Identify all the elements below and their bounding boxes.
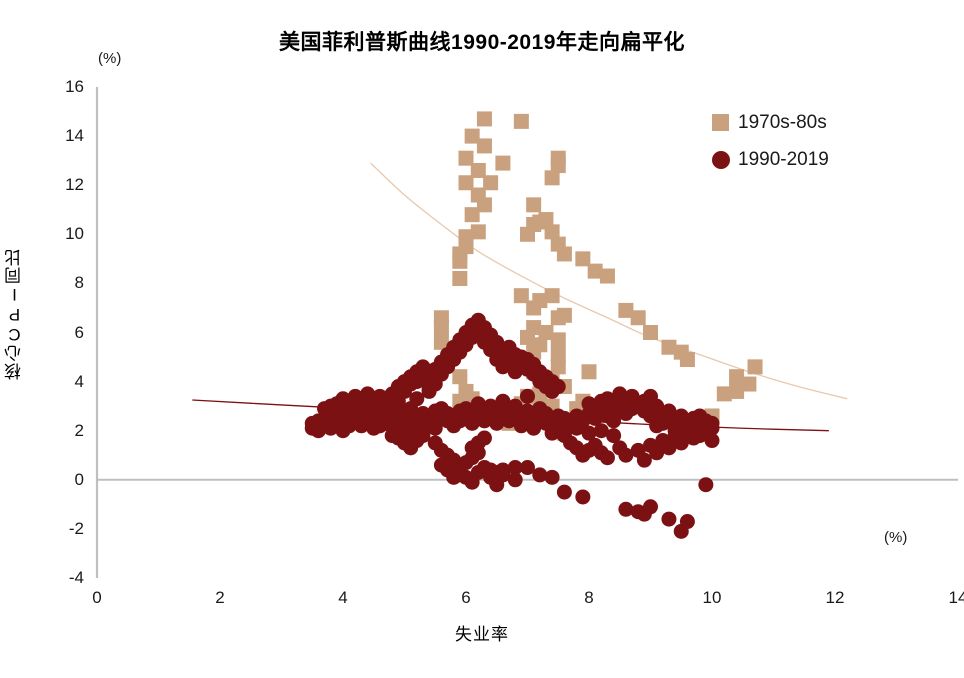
scatter-point-circle bbox=[606, 428, 621, 443]
scatter-point-square bbox=[643, 325, 658, 340]
scatter-point-square bbox=[477, 111, 492, 126]
scatter-point-square bbox=[514, 288, 529, 303]
phillips-curve-chart: 美国菲利普斯曲线1990-2019年走向扁平化 (%) (%) 核心CPI同比 … bbox=[0, 0, 964, 678]
scatter-point-square bbox=[631, 310, 646, 325]
scatter-point-square bbox=[748, 359, 763, 374]
legend-circle-icon bbox=[712, 151, 730, 169]
scatter-point-square bbox=[452, 246, 467, 261]
scatter-point-circle bbox=[477, 431, 492, 446]
scatter-point-square bbox=[452, 271, 467, 286]
scatter-point-circle bbox=[520, 460, 535, 475]
scatter-point-square bbox=[434, 320, 449, 335]
scatter-point-circle bbox=[680, 514, 695, 529]
scatter-point-square bbox=[526, 197, 541, 212]
legend-label: 1970s-80s bbox=[738, 112, 827, 134]
scatter-point-circle bbox=[520, 389, 535, 404]
legend-label: 1990-2019 bbox=[738, 149, 829, 171]
scatter-point-square bbox=[452, 369, 467, 384]
scatter-point-circle bbox=[551, 379, 566, 394]
plot-area bbox=[0, 0, 964, 678]
scatter-point-circle bbox=[317, 401, 332, 416]
scatter-point-square bbox=[600, 269, 615, 284]
scatter-point-square bbox=[545, 288, 560, 303]
scatter-point-circle bbox=[434, 458, 449, 473]
scatter-point-circle bbox=[705, 433, 720, 448]
scatter-point-square bbox=[551, 151, 566, 166]
scatter-point-square bbox=[477, 138, 492, 153]
scatter-series-1990-2019 bbox=[305, 313, 720, 539]
scatter-point-square bbox=[582, 364, 597, 379]
chart-legend: 1970s-80s 1990-2019 bbox=[712, 104, 829, 178]
scatter-point-circle bbox=[422, 381, 437, 396]
scatter-point-circle bbox=[643, 499, 658, 514]
scatter-point-square bbox=[495, 156, 510, 171]
scatter-point-square bbox=[538, 325, 553, 340]
scatter-point-square bbox=[551, 310, 566, 325]
scatter-point-circle bbox=[575, 489, 590, 504]
scatter-point-circle bbox=[698, 477, 713, 492]
scatter-point-circle bbox=[385, 428, 400, 443]
scatter-point-circle bbox=[705, 416, 720, 431]
scatter-point-circle bbox=[508, 472, 523, 487]
scatter-point-square bbox=[557, 246, 572, 261]
scatter-point-square bbox=[680, 352, 695, 367]
scatter-point-circle bbox=[600, 450, 615, 465]
scatter-point-circle bbox=[545, 470, 560, 485]
scatter-point-circle bbox=[409, 433, 424, 448]
scatter-point-square bbox=[514, 114, 529, 129]
scatter-point-square bbox=[465, 207, 480, 222]
legend-item-1970s-80s[interactable]: 1970s-80s bbox=[712, 104, 829, 141]
scatter-point-circle bbox=[643, 389, 658, 404]
scatter-point-circle bbox=[661, 512, 676, 527]
legend-item-1990-2019[interactable]: 1990-2019 bbox=[712, 141, 829, 178]
scatter-point-square bbox=[717, 386, 732, 401]
scatter-point-square bbox=[471, 188, 486, 203]
scatter-point-circle bbox=[680, 413, 695, 428]
scatter-point-circle bbox=[557, 485, 572, 500]
legend-square-icon bbox=[712, 114, 729, 131]
scatter-point-square bbox=[551, 359, 566, 374]
